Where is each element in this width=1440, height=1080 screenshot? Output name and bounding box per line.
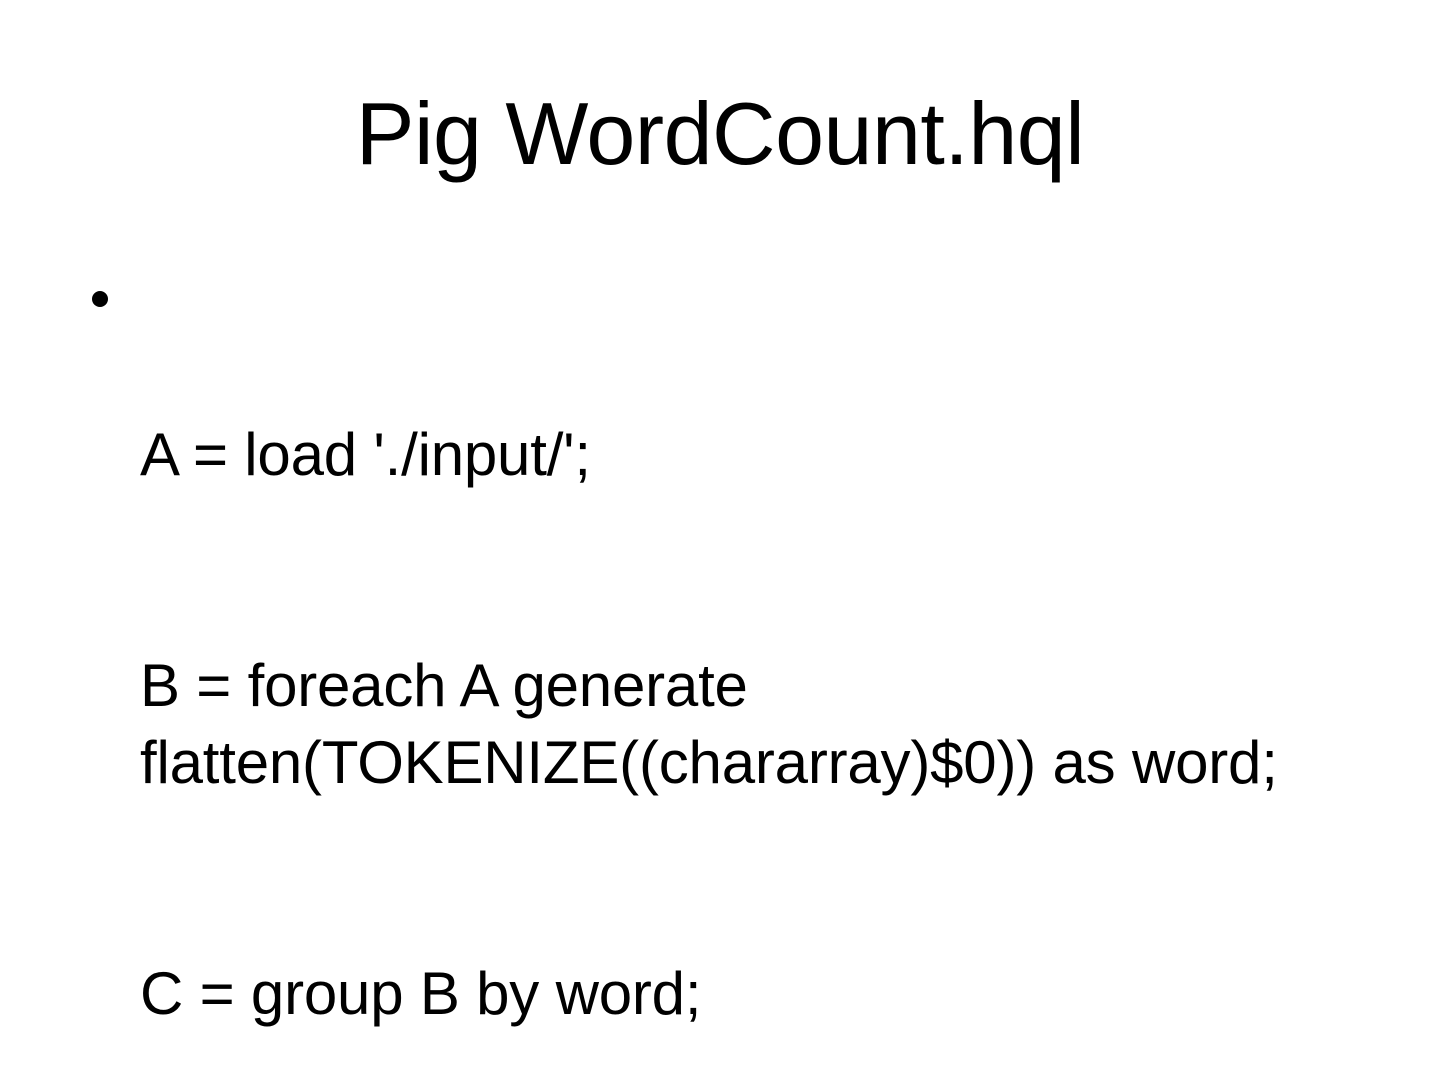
page-title: Pig WordCount.hql bbox=[0, 88, 1440, 180]
code-line: C = group B by word; bbox=[140, 955, 1370, 1032]
round-bullet-icon bbox=[92, 291, 108, 307]
slide: Pig WordCount.hql A = load './input/'; B… bbox=[0, 0, 1440, 1080]
code-line: B = foreach A generate flatten(TOKENIZE(… bbox=[140, 647, 1370, 801]
slide-body: A = load './input/'; B = foreach A gener… bbox=[80, 262, 1370, 1080]
code-line: A = load './input/'; bbox=[140, 416, 1370, 493]
code-block: A = load './input/'; B = foreach A gener… bbox=[140, 262, 1370, 1080]
list-item: A = load './input/'; B = foreach A gener… bbox=[80, 262, 1370, 1080]
